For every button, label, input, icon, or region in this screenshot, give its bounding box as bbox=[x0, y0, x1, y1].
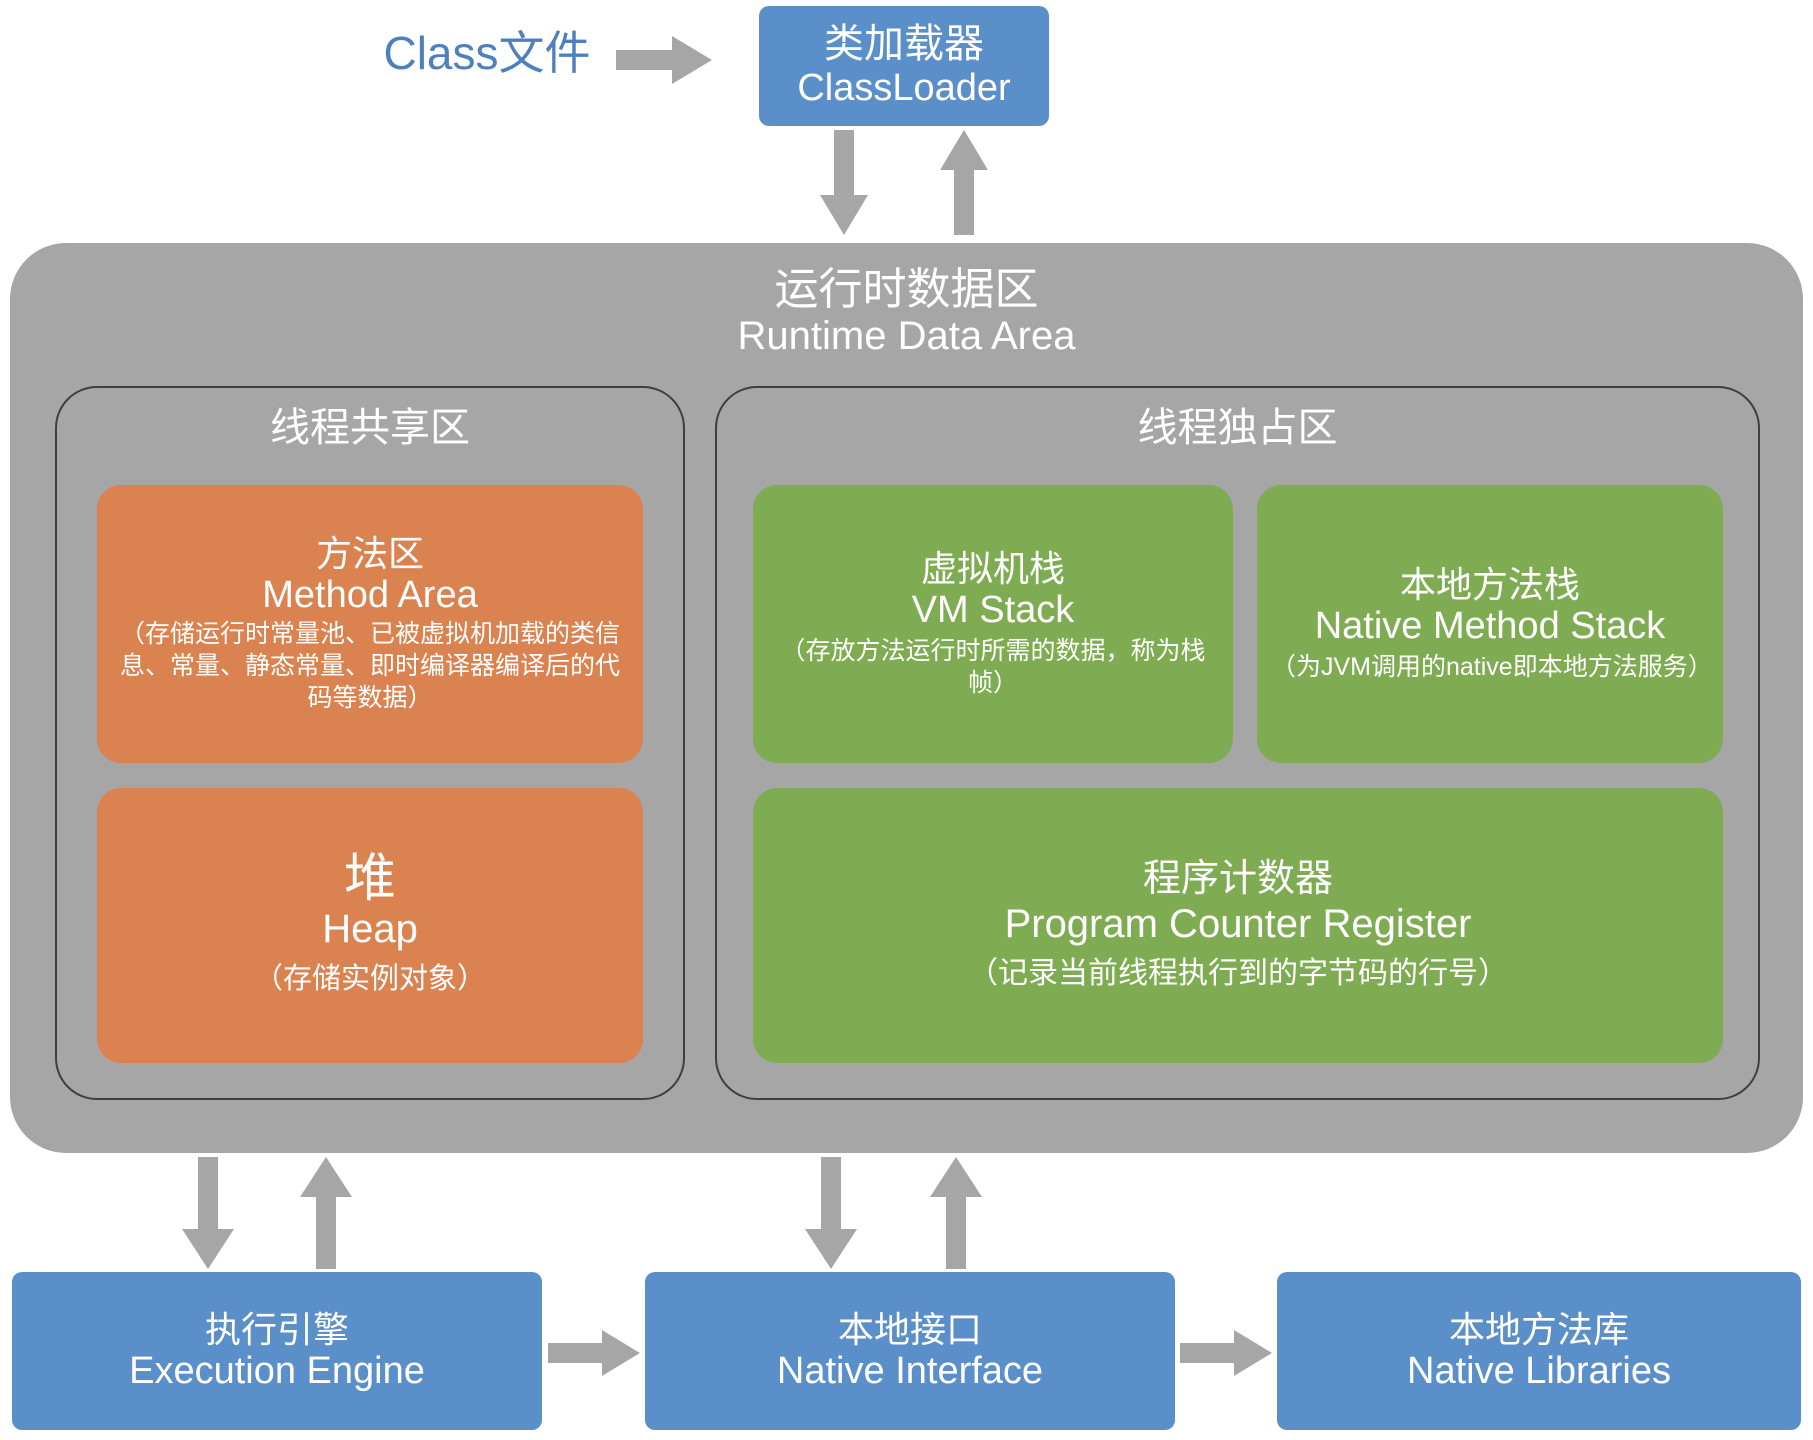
class-file-label: Class文件 bbox=[372, 22, 602, 84]
native-interface-box[interactable]: 本地接口 Native Interface bbox=[645, 1272, 1175, 1430]
execution-engine-cn-label: 执行引擎 bbox=[205, 1310, 349, 1350]
method-area-cn-label: 方法区 bbox=[316, 534, 424, 574]
program-counter-register-box[interactable]: 程序计数器 Program Counter Register （记录当前线程执行… bbox=[753, 788, 1723, 1063]
classloader-en-label: ClassLoader bbox=[797, 67, 1010, 110]
native-interface-en-label: Native Interface bbox=[777, 1350, 1043, 1393]
method-area-description: （存储运行时常量池、已被虚拟机加载的类信息、常量、静态常量、即时编译器编译后的代… bbox=[111, 618, 629, 714]
arrow-native-interface-to-runtime-icon bbox=[930, 1157, 982, 1269]
arrow-execution-engine-to-runtime-icon bbox=[300, 1157, 352, 1269]
runtime-data-area-header: 运行时数据区 Runtime Data Area bbox=[10, 265, 1803, 359]
native-interface-cn-label: 本地接口 bbox=[838, 1310, 982, 1350]
arrow-native-interface-to-native-libraries-icon bbox=[1180, 1330, 1272, 1376]
vm-stack-cn-label: 虚拟机栈 bbox=[921, 549, 1065, 589]
arrow-class-to-classloader-icon bbox=[616, 36, 712, 84]
arrow-runtime-to-classloader-icon bbox=[940, 130, 988, 235]
vm-stack-en-label: VM Stack bbox=[912, 589, 1075, 632]
runtime-data-area-cn-label: 运行时数据区 bbox=[10, 265, 1803, 314]
arrow-classloader-to-runtime-icon bbox=[820, 130, 868, 235]
program-counter-cn-label: 程序计数器 bbox=[1143, 858, 1333, 901]
classloader-cn-label: 类加载器 bbox=[824, 22, 984, 67]
method-area-box[interactable]: 方法区 Method Area （存储运行时常量池、已被虚拟机加载的类信息、常量… bbox=[97, 485, 643, 763]
heap-cn-label: 堆 bbox=[344, 853, 396, 905]
runtime-data-area-en-label: Runtime Data Area bbox=[10, 314, 1803, 359]
heap-en-label: Heap bbox=[322, 907, 418, 952]
arrow-runtime-to-execution-engine-icon bbox=[182, 1157, 234, 1269]
thread-shared-panel-title: 线程共享区 bbox=[57, 406, 683, 450]
native-libraries-cn-label: 本地方法库 bbox=[1449, 1310, 1629, 1350]
program-counter-description: （记录当前线程执行到的字节码的行号） bbox=[968, 955, 1508, 993]
thread-private-panel-title: 线程独占区 bbox=[717, 406, 1758, 450]
native-libraries-box[interactable]: 本地方法库 Native Libraries bbox=[1277, 1272, 1801, 1430]
native-method-stack-cn-label: 本地方法栈 bbox=[1400, 565, 1580, 605]
vm-stack-box[interactable]: 虚拟机栈 VM Stack （存放方法运行时所需的数据，称为栈帧） bbox=[753, 485, 1233, 763]
arrow-runtime-to-native-interface-icon bbox=[805, 1157, 857, 1269]
thread-shared-panel: 线程共享区 方法区 Method Area （存储运行时常量池、已被虚拟机加载的… bbox=[55, 386, 685, 1100]
vm-stack-description: （存放方法运行时所需的数据，称为栈帧） bbox=[767, 635, 1219, 699]
classloader-box[interactable]: 类加载器 ClassLoader bbox=[759, 6, 1049, 126]
execution-engine-en-label: Execution Engine bbox=[129, 1350, 425, 1393]
method-area-en-label: Method Area bbox=[262, 574, 477, 617]
native-libraries-en-label: Native Libraries bbox=[1407, 1350, 1671, 1393]
heap-box[interactable]: 堆 Heap （存储实例对象） bbox=[97, 788, 643, 1063]
heap-description: （存储实例对象） bbox=[254, 961, 486, 998]
native-method-stack-en-label: Native Method Stack bbox=[1315, 605, 1666, 648]
native-method-stack-box[interactable]: 本地方法栈 Native Method Stack （为JVM调用的native… bbox=[1257, 485, 1723, 763]
execution-engine-box[interactable]: 执行引擎 Execution Engine bbox=[12, 1272, 542, 1430]
arrow-execution-engine-to-native-interface-icon bbox=[548, 1330, 640, 1376]
runtime-data-area: 运行时数据区 Runtime Data Area 线程共享区 方法区 Metho… bbox=[10, 243, 1803, 1153]
thread-private-panel: 线程独占区 虚拟机栈 VM Stack （存放方法运行时所需的数据，称为栈帧） … bbox=[715, 386, 1760, 1100]
program-counter-en-label: Program Counter Register bbox=[1005, 902, 1472, 947]
jvm-architecture-diagram: Class文件 类加载器 ClassLoader 运行时数据区 Runtime … bbox=[0, 0, 1813, 1440]
native-method-stack-description: （为JVM调用的native即本地方法服务） bbox=[1271, 651, 1709, 683]
